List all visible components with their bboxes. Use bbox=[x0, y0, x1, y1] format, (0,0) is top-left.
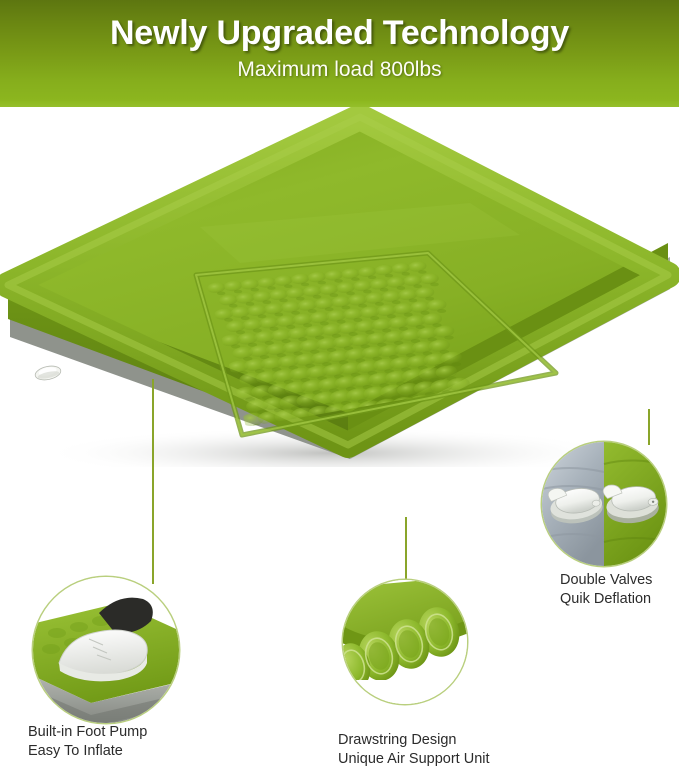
page-title: Newly Upgraded Technology bbox=[0, 14, 679, 53]
product-stage: Built-in Foot Pump Easy To Inflate bbox=[0, 107, 679, 661]
leader-line-drawstring bbox=[405, 517, 407, 581]
caption-drawstring: Drawstring Design Unique Air Support Uni… bbox=[338, 731, 490, 769]
caption-double-valves: Double Valves Quik Deflation bbox=[560, 571, 652, 609]
caption-foot-pump: Built-in Foot Pump Easy To Inflate bbox=[28, 723, 147, 761]
leader-line-foot-pump bbox=[152, 379, 154, 584]
page-subtitle: Maximum load 800lbs bbox=[0, 58, 679, 82]
leader-line-double-valves bbox=[648, 409, 650, 445]
callout-foot-pump bbox=[33, 577, 179, 723]
callout-drawstring bbox=[343, 580, 467, 704]
callout-double-valves bbox=[542, 442, 666, 566]
mattress-valve-icon bbox=[34, 364, 62, 382]
product-image-air-mattress bbox=[0, 107, 679, 467]
